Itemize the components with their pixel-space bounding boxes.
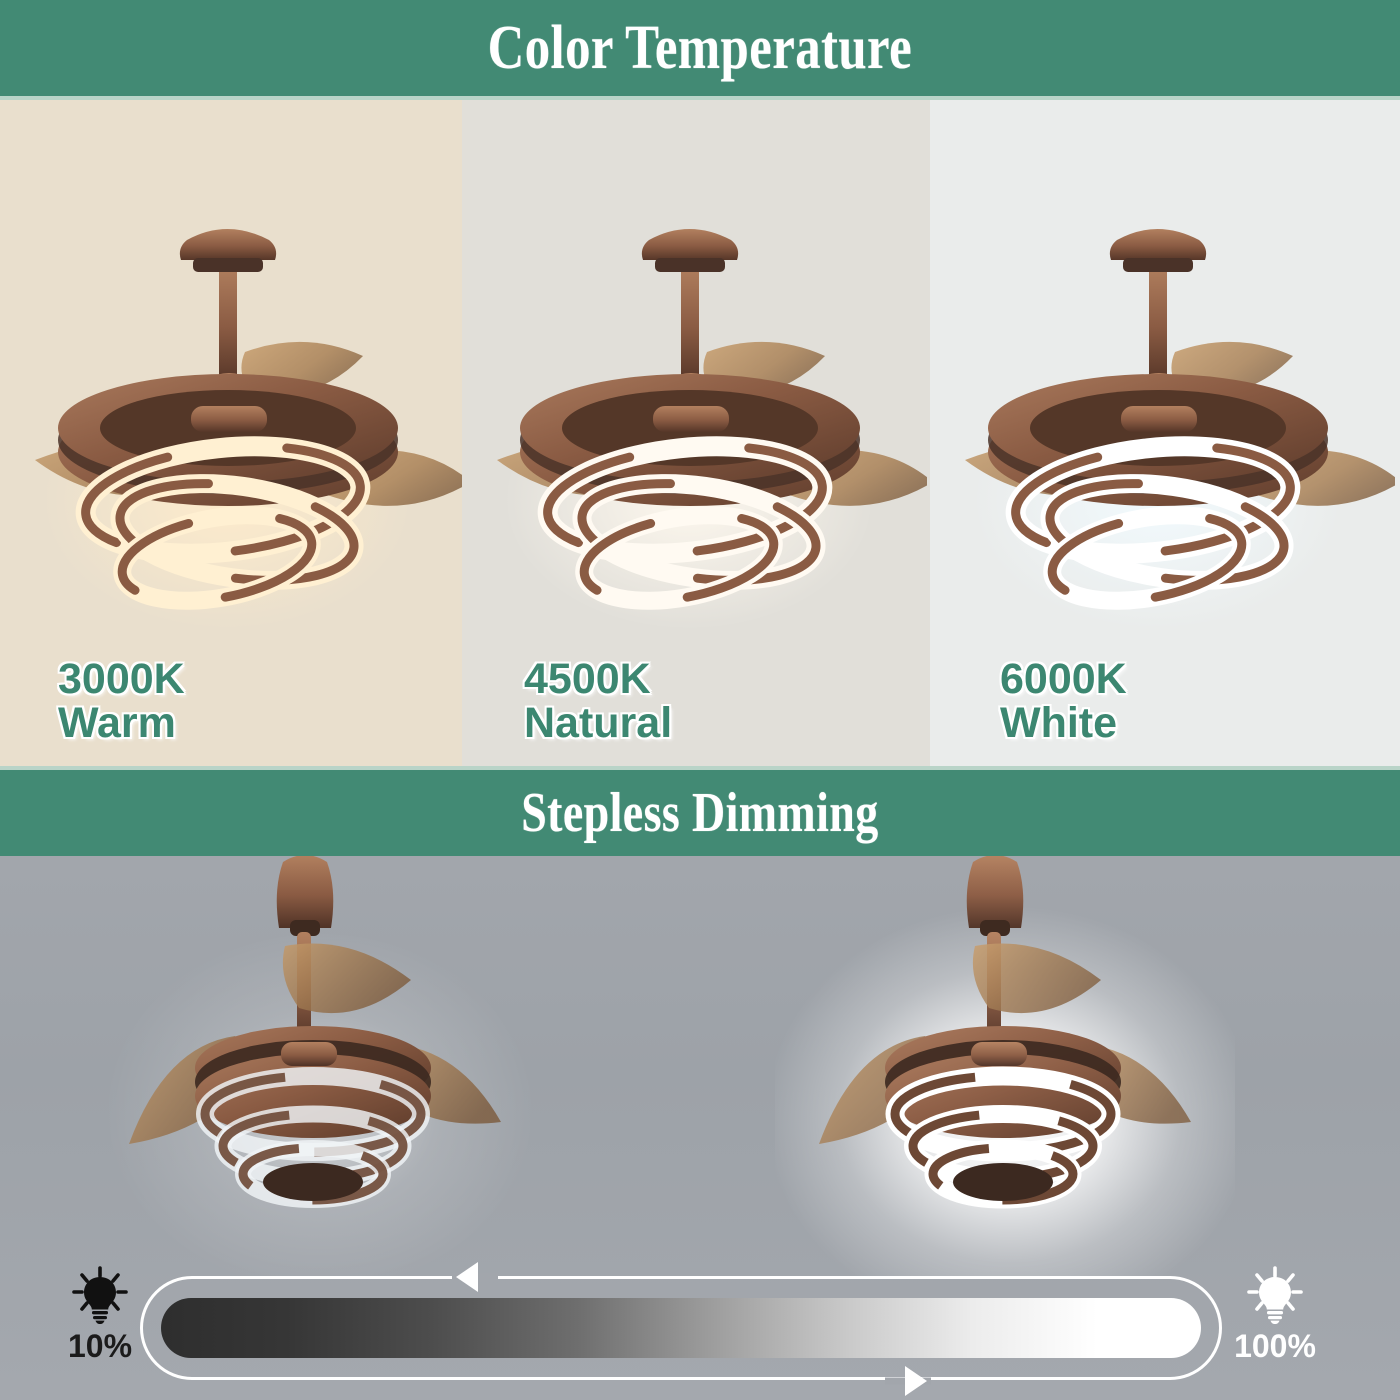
dimming-slider-area[interactable]: 10% bbox=[0, 1262, 1400, 1400]
lightbulb-icon bbox=[69, 1266, 131, 1324]
infographic-page: Color Temperature bbox=[0, 0, 1400, 1400]
ct-panel-warm: 3000K Warm bbox=[0, 100, 462, 766]
ct-label-warm: 3000K Warm bbox=[58, 657, 185, 746]
color-temperature-title: Color Temperature bbox=[488, 13, 912, 84]
ceiling-fan-icon bbox=[0, 200, 462, 640]
stepless-dimming-banner: Stepless Dimming bbox=[0, 770, 1400, 856]
ct-kelvin: 3000K bbox=[58, 657, 185, 702]
color-temperature-section: 3000K Warm bbox=[0, 100, 1400, 766]
arrow-left-icon bbox=[452, 1260, 498, 1294]
max-brightness-group: 100% bbox=[1215, 1266, 1335, 1365]
ceiling-fan-icon bbox=[775, 856, 1235, 1276]
ct-kelvin: 6000K bbox=[1000, 657, 1127, 702]
ct-name: White bbox=[1000, 701, 1127, 746]
slider-gradient-fill[interactable] bbox=[161, 1298, 1201, 1358]
stepless-dimming-title: Stepless Dimming bbox=[521, 781, 878, 845]
max-brightness-label: 100% bbox=[1215, 1328, 1335, 1365]
ceiling-fan-icon bbox=[930, 200, 1395, 640]
brightness-slider[interactable] bbox=[140, 1276, 1222, 1380]
ct-kelvin: 4500K bbox=[524, 657, 672, 702]
ct-name: Warm bbox=[58, 701, 185, 746]
lightbulb-icon bbox=[1244, 1266, 1306, 1324]
color-temperature-banner: Color Temperature bbox=[0, 0, 1400, 96]
ceiling-fan-icon bbox=[462, 200, 927, 640]
ceiling-fan-icon bbox=[85, 856, 545, 1276]
arrow-right-icon bbox=[885, 1364, 931, 1398]
ct-panel-white: 6000K White bbox=[930, 100, 1400, 766]
ct-panel-natural: 4500K Natural bbox=[462, 100, 930, 766]
ct-label-natural: 4500K Natural bbox=[524, 657, 672, 746]
ct-label-white: 6000K White bbox=[1000, 657, 1127, 746]
ct-name: Natural bbox=[524, 701, 672, 746]
